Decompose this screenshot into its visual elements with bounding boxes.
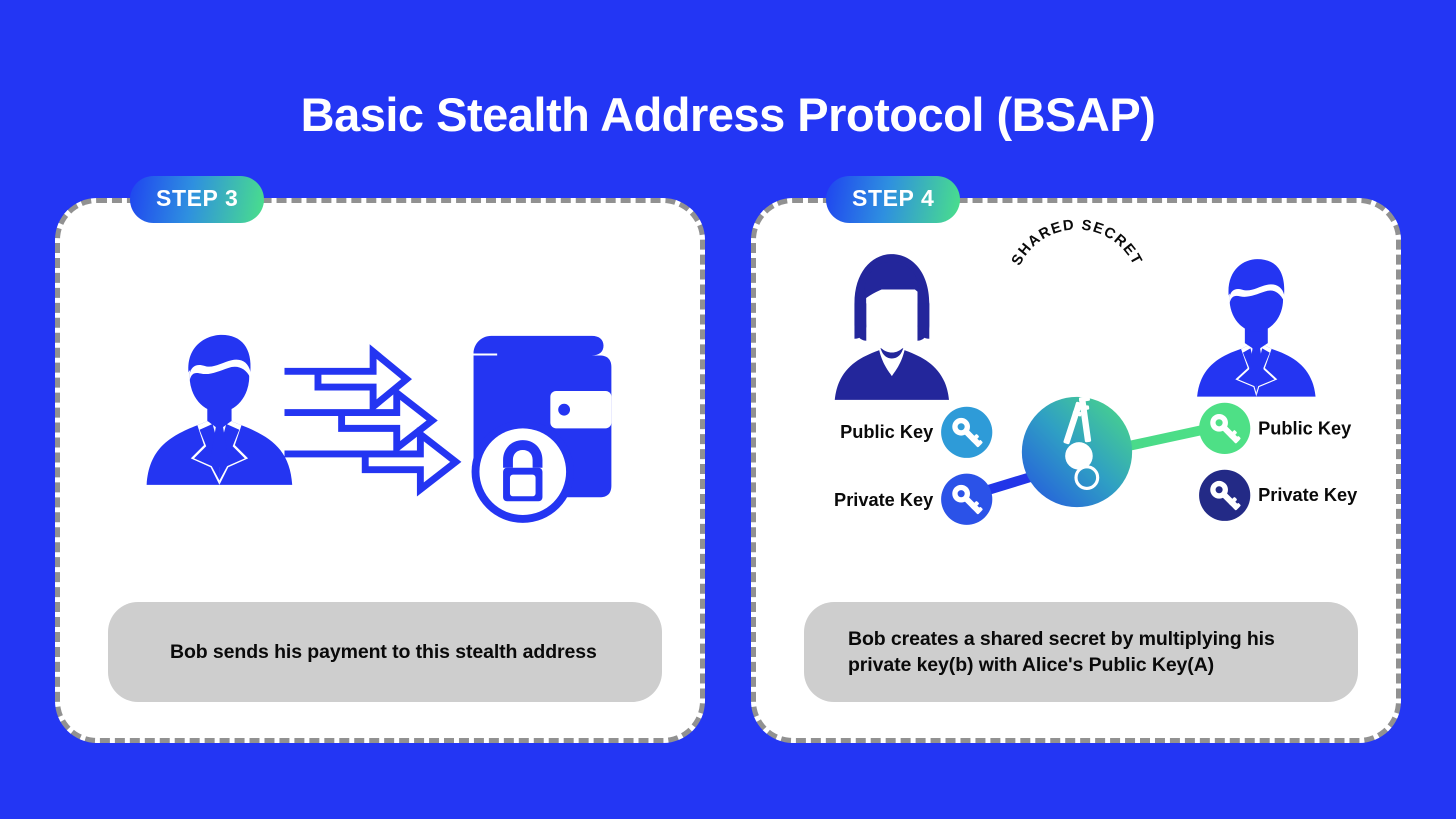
left-public-key-label: Public Key xyxy=(840,422,934,442)
businessman-avatar-icon xyxy=(147,335,293,485)
step-4-illustration: Public Key Private Key xyxy=(756,203,1396,573)
public-key-connector-right xyxy=(1128,430,1201,446)
step-3-illustration xyxy=(60,203,700,573)
step-4-card: STEP 4 xyxy=(751,198,1401,743)
step-3-caption: Bob sends his payment to this stealth ad… xyxy=(108,602,662,702)
wallet-lock-icon xyxy=(472,336,612,523)
step-3-badge: STEP 3 xyxy=(130,176,264,223)
shared-secret-node: SHARED SECRET xyxy=(1009,217,1145,507)
left-private-key-label: Private Key xyxy=(834,490,934,510)
right-public-key-icon xyxy=(1199,403,1250,454)
left-public-key-icon xyxy=(941,407,992,458)
alice-avatar-icon xyxy=(835,254,949,400)
step-4-caption-text: Bob creates a shared secret by multiplyi… xyxy=(848,626,1324,679)
step-4-badge: STEP 4 xyxy=(826,176,960,223)
left-private-key-icon xyxy=(941,474,992,525)
right-private-key-icon xyxy=(1199,470,1250,521)
shared-secret-label: SHARED SECRET xyxy=(1009,217,1145,268)
step-3-card: STEP 3 xyxy=(55,198,705,743)
step-4-caption: Bob creates a shared secret by multiplyi… xyxy=(804,602,1358,702)
three-arrows-icon xyxy=(284,352,455,490)
right-private-key-label: Private Key xyxy=(1258,485,1358,505)
right-public-key-label: Public Key xyxy=(1258,418,1352,438)
bob-avatar-icon xyxy=(1197,259,1315,397)
step-3-caption-text: Bob sends his payment to this stealth ad… xyxy=(170,639,597,665)
page-title: Basic Stealth Address Protocol (BSAP) xyxy=(0,89,1456,141)
